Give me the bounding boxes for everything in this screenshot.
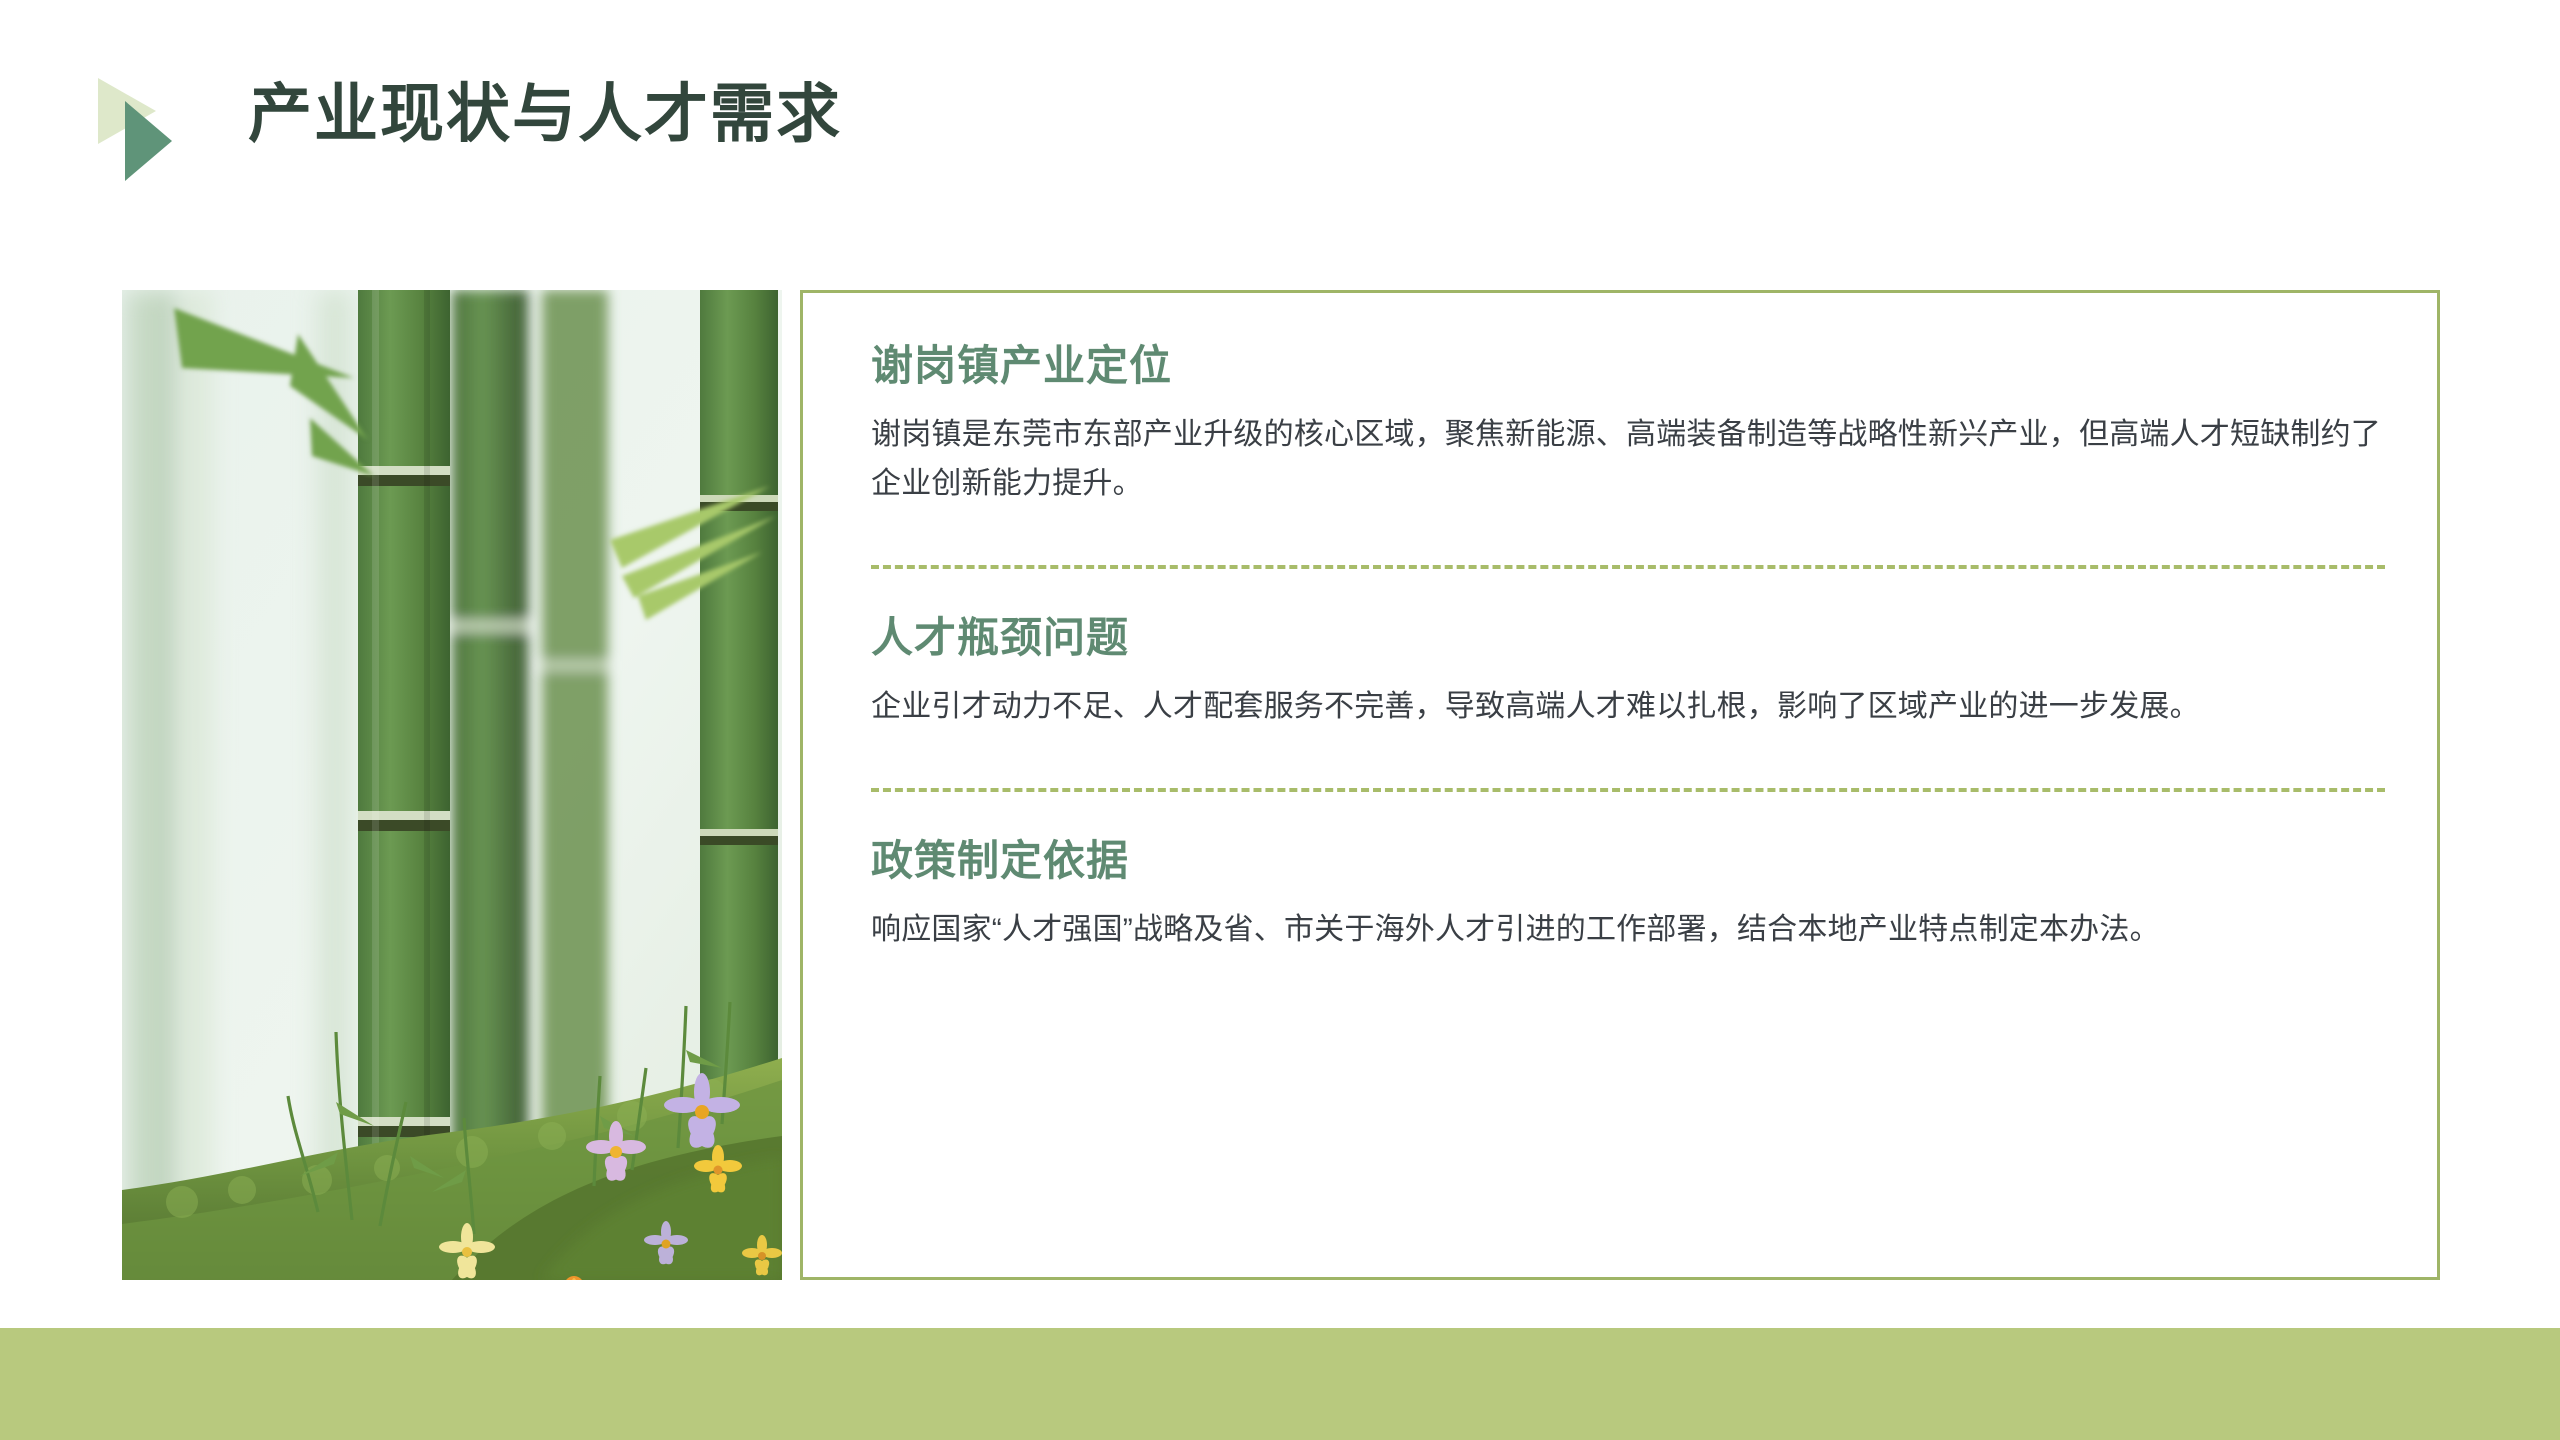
- section-divider: [871, 565, 2385, 569]
- content-card: 谢岗镇产业定位 谢岗镇是东莞市东部产业升级的核心区域，聚焦新能源、高端装备制造等…: [800, 290, 2440, 1280]
- card-content: 谢岗镇产业定位 谢岗镇是东莞市东部产业升级的核心区域，聚焦新能源、高端装备制造等…: [871, 341, 2385, 955]
- section-body: 谢岗镇是东莞市东部产业升级的核心区域，聚焦新能源、高端装备制造等战略性新兴产业，…: [871, 411, 2385, 508]
- section-divider: [871, 788, 2385, 792]
- footer-band: [0, 1328, 2560, 1440]
- section-talent-bottleneck: 人才瓶颈问题 企业引才动力不足、人才配套服务不完善，导致高端人才难以扎根，影响了…: [871, 613, 2385, 732]
- section-heading: 政策制定依据: [871, 836, 2385, 886]
- section-heading: 人才瓶颈问题: [871, 613, 2385, 663]
- bamboo-photo: [122, 290, 782, 1280]
- play-triangle-icon: [98, 72, 218, 187]
- section-body: 响应国家“人才强国”战略及省、市关于海外人才引进的工作部署，结合本地产业特点制定…: [871, 906, 2385, 955]
- section-heading: 谢岗镇产业定位: [871, 341, 2385, 391]
- section-policy-basis: 政策制定依据 响应国家“人才强国”战略及省、市关于海外人才引进的工作部署，结合本…: [871, 836, 2385, 955]
- page-title: 产业现状与人才需求: [248, 78, 842, 152]
- slide-header: 产业现状与人才需求: [0, 0, 2560, 230]
- section-industry-positioning: 谢岗镇产业定位 谢岗镇是东莞市东部产业升级的核心区域，聚焦新能源、高端装备制造等…: [871, 341, 2385, 509]
- section-body: 企业引才动力不足、人才配套服务不完善，导致高端人才难以扎根，影响了区域产业的进一…: [871, 683, 2385, 732]
